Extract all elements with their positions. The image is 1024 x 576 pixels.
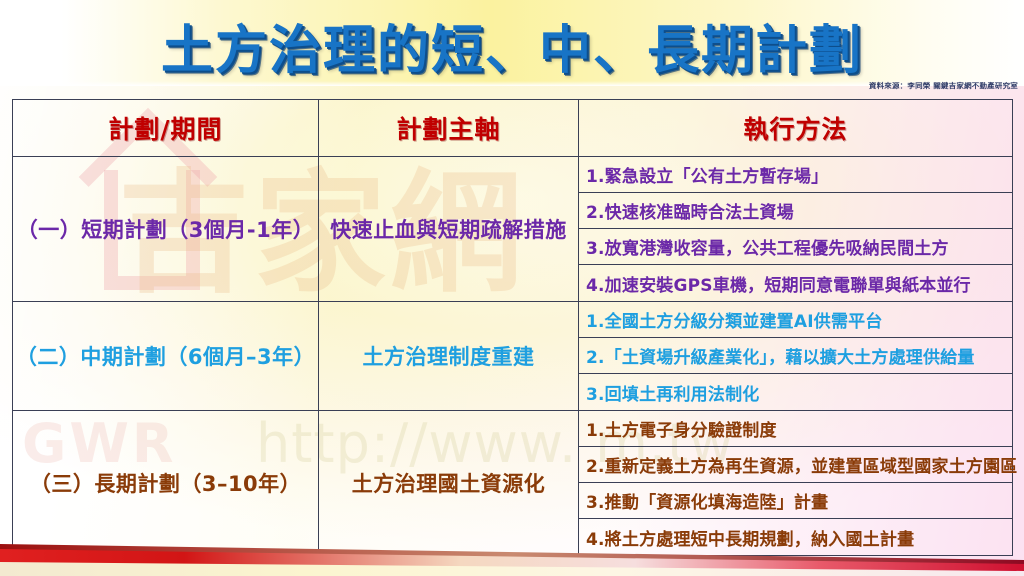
plan-period-cell: （二）中期計劃（6個月–3年） bbox=[13, 302, 319, 411]
list-item: 4.加速安裝GPS車機，短期同意電聯單與紙本並行 bbox=[579, 265, 1012, 301]
slide-canvas: 吉家網 GWR http://www. m.tw 土方治理的短、中、長期計劃 資… bbox=[0, 0, 1024, 576]
plan-methods-cell: 1.土方電子身分驗證制度 2.重新定義土方為再生資源，並建置區域型國家土方園區 … bbox=[579, 411, 1013, 556]
methods-list: 1.土方電子身分驗證制度 2.重新定義土方為再生資源，並建置區域型國家土方園區 … bbox=[579, 411, 1012, 555]
list-item: 3.放寬港灣收容量，公共工程優先吸納民間土方 bbox=[579, 229, 1012, 265]
column-header-period: 計劃/期間 bbox=[13, 100, 319, 157]
column-header-method: 執行方法 bbox=[579, 100, 1013, 157]
plan-axis-cell: 土方治理制度重建 bbox=[319, 302, 579, 411]
list-item: 1.緊急設立「公有土方暫存場」 bbox=[579, 157, 1012, 193]
source-credit: 資料來源：李同榮 關鍵吉家網不動產研究室 bbox=[869, 80, 1018, 90]
table-row: （三）長期計劃（3–10年） 土方治理國土資源化 1.土方電子身分驗證制度 2.… bbox=[13, 411, 1013, 556]
table-header-row: 計劃/期間 計劃主軸 執行方法 bbox=[13, 100, 1013, 157]
plan-methods-cell: 1.全國土方分級分類並建置AI供需平台 2.「土資場升級產業化」，藉以擴大土方處… bbox=[579, 302, 1013, 411]
table-row: （二）中期計劃（6個月–3年） 土方治理制度重建 1.全國土方分級分類並建置AI… bbox=[13, 302, 1013, 411]
column-header-axis: 計劃主軸 bbox=[319, 100, 579, 157]
list-item: 1.土方電子身分驗證制度 bbox=[579, 411, 1012, 447]
plan-axis-cell: 快速止血與短期疏解措施 bbox=[319, 157, 579, 302]
list-item: 2.快速核准臨時合法土資場 bbox=[579, 193, 1012, 229]
page-title: 土方治理的短、中、長期計劃 bbox=[0, 8, 1024, 83]
list-item: 2.「土資場升級產業化」，藉以擴大土方處理供給量 bbox=[579, 338, 1012, 374]
methods-list: 1.緊急設立「公有土方暫存場」 2.快速核准臨時合法土資場 3.放寬港灣收容量，… bbox=[579, 157, 1012, 301]
table-row: （一）短期計劃（3個月-1年） 快速止血與短期疏解措施 1.緊急設立「公有土方暫… bbox=[13, 157, 1013, 302]
bottom-swoosh-decoration bbox=[0, 540, 1024, 576]
list-item: 3.回填土再利用法制化 bbox=[579, 374, 1012, 410]
methods-list: 1.全國土方分級分類並建置AI供需平台 2.「土資場升級產業化」，藉以擴大土方處… bbox=[579, 302, 1012, 410]
plan-methods-cell: 1.緊急設立「公有土方暫存場」 2.快速核准臨時合法土資場 3.放寬港灣收容量，… bbox=[579, 157, 1013, 302]
plan-table: 計劃/期間 計劃主軸 執行方法 （一）短期計劃（3個月-1年） 快速止血與短期疏… bbox=[12, 99, 1013, 556]
list-item: 2.重新定義土方為再生資源，並建置區域型國家土方園區 bbox=[579, 447, 1012, 483]
list-item: 1.全國土方分級分類並建置AI供需平台 bbox=[579, 302, 1012, 338]
plan-period-cell: （一）短期計劃（3個月-1年） bbox=[13, 157, 319, 302]
plan-axis-cell: 土方治理國土資源化 bbox=[319, 411, 579, 556]
plan-period-cell: （三）長期計劃（3–10年） bbox=[13, 411, 319, 556]
list-item: 3.推動「資源化填海造陸」計畫 bbox=[579, 483, 1012, 519]
